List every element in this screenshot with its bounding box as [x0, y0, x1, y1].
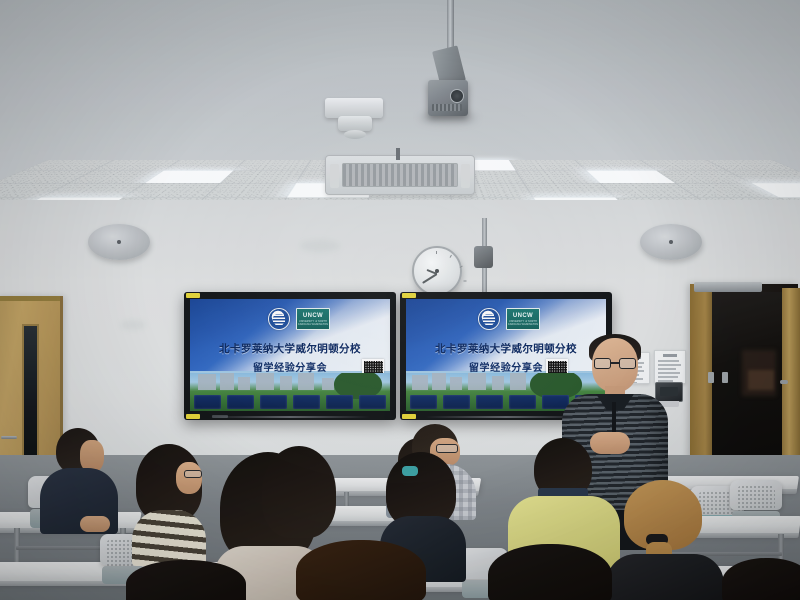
wall-clock	[412, 246, 462, 296]
slide-subtitle: 留学经验分享会	[190, 359, 390, 374]
display-asset-label	[402, 414, 416, 419]
door-closer	[694, 282, 762, 292]
attendee-hair	[262, 446, 336, 538]
smoke-detector-secondary	[344, 130, 366, 139]
ac-sensor	[396, 148, 400, 160]
clock-minute-hand	[422, 273, 437, 284]
attendee-front-row-1	[296, 540, 426, 600]
door-handle-icon[interactable]	[780, 380, 788, 384]
projector-lens-icon	[450, 89, 464, 103]
ceiling-tile	[509, 160, 586, 171]
smoke-detector	[338, 116, 372, 131]
attendee-face	[176, 462, 202, 494]
hair-tie-icon	[402, 466, 418, 476]
door-handle-icon[interactable]	[1, 436, 17, 439]
uncw-wordmark-text: UNCW	[513, 313, 533, 319]
attendee-front-row-3	[126, 560, 246, 600]
attendee-navy-polo	[36, 428, 120, 532]
attendee-hair	[722, 558, 800, 600]
ceiling-speaker	[325, 98, 383, 118]
ceiling-tile	[220, 171, 304, 183]
attendee-hands	[80, 516, 110, 532]
ceiling-tile	[205, 183, 296, 197]
uncw-wordmark-subtext: UNIVERSITY of NORTH CAROLINA WILMINGTON	[507, 320, 539, 326]
left-display-screen: UNCW UNIVERSITY of NORTH CAROLINA WILMIN…	[190, 299, 390, 411]
ceiling-tile	[163, 160, 245, 171]
display-asset-label	[402, 293, 416, 298]
desk-leg	[14, 528, 20, 562]
ceiling-tile	[516, 171, 600, 183]
slide-title: 北卡罗莱纳大学威尔明顿分校	[190, 341, 390, 356]
classroom-photo: UNCW UNIVERSITY of NORTH CAROLINA WILMIN…	[0, 0, 800, 600]
attendee-striped-top	[132, 444, 208, 554]
display-asset-label	[186, 414, 200, 419]
uncw-wordmark-subtext: UNIVERSITY of NORTH CAROLINA WILMINGTON	[297, 320, 329, 326]
display-asset-label	[186, 293, 200, 298]
university-seal-logo	[268, 308, 290, 330]
recessed-light-panel	[145, 171, 234, 183]
attendee-hair	[126, 560, 246, 600]
air-conditioning-vent	[325, 155, 475, 195]
wall-camera	[474, 246, 493, 268]
uncw-wordmark-logo: UNCW UNIVERSITY of NORTH CAROLINA WILMIN…	[296, 308, 330, 330]
display-bottom-strip	[209, 416, 370, 418]
wall-speaker-left	[88, 224, 150, 260]
glasses-icon	[594, 358, 636, 369]
attendee-torso	[132, 510, 206, 566]
door-hinge	[708, 372, 714, 383]
attendee-hair	[296, 540, 426, 600]
university-seal-logo	[478, 308, 500, 330]
uncw-wordmark-text: UNCW	[303, 313, 323, 319]
uncw-wordmark-logo: UNCW UNIVERSITY of NORTH CAROLINA WILMIN…	[506, 308, 540, 330]
attendee-blonde-ponytail	[610, 480, 720, 600]
attendee-long-hair-2	[262, 446, 336, 542]
wall-speaker-right	[640, 224, 702, 260]
attendee-front-row-2	[488, 544, 612, 600]
attendee-hair	[488, 544, 612, 600]
attendee-torso	[606, 554, 724, 600]
ceiling-tile	[234, 160, 311, 171]
ceiling	[0, 0, 800, 232]
left-display[interactable]: UNCW UNIVERSITY of NORTH CAROLINA WILMIN…	[184, 292, 396, 420]
slide-banner-row	[194, 395, 386, 409]
slide-campus-photo	[190, 373, 390, 411]
ceiling-projector	[428, 80, 468, 116]
door-hinge	[722, 372, 728, 383]
glasses-icon	[184, 470, 202, 478]
attendee-front-row-4	[722, 558, 800, 600]
